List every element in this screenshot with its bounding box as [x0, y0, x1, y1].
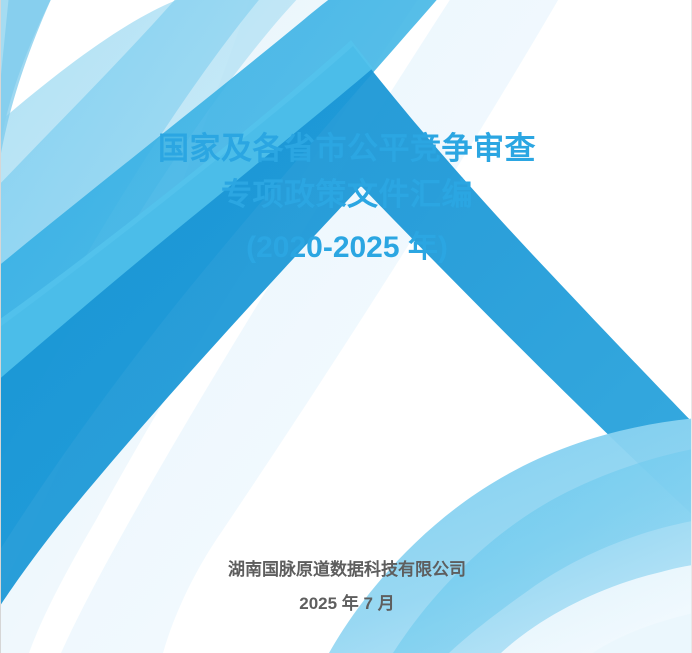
publisher-organization: 湖南国脉原道数据科技有限公司: [1, 553, 692, 587]
publication-date: 2025 年 7 月: [1, 587, 692, 621]
document-cover-page: 国家及各省市公平竞争审查 专项政策文件汇编 (2020-2025 年) 湖南国脉…: [0, 0, 692, 653]
page-title-line-1: 国家及各省市公平竞争审查: [1, 126, 692, 172]
cover-content: 国家及各省市公平竞争审查 专项政策文件汇编 (2020-2025 年) 湖南国脉…: [1, 0, 692, 653]
cover-footer-block: 湖南国脉原道数据科技有限公司 2025 年 7 月: [1, 553, 692, 621]
page-title-line-2: 专项政策文件汇编: [1, 172, 692, 218]
cover-title-block: 国家及各省市公平竞争审查 专项政策文件汇编 (2020-2025 年): [1, 126, 692, 271]
page-title-year-range: (2020-2025 年): [1, 225, 692, 271]
